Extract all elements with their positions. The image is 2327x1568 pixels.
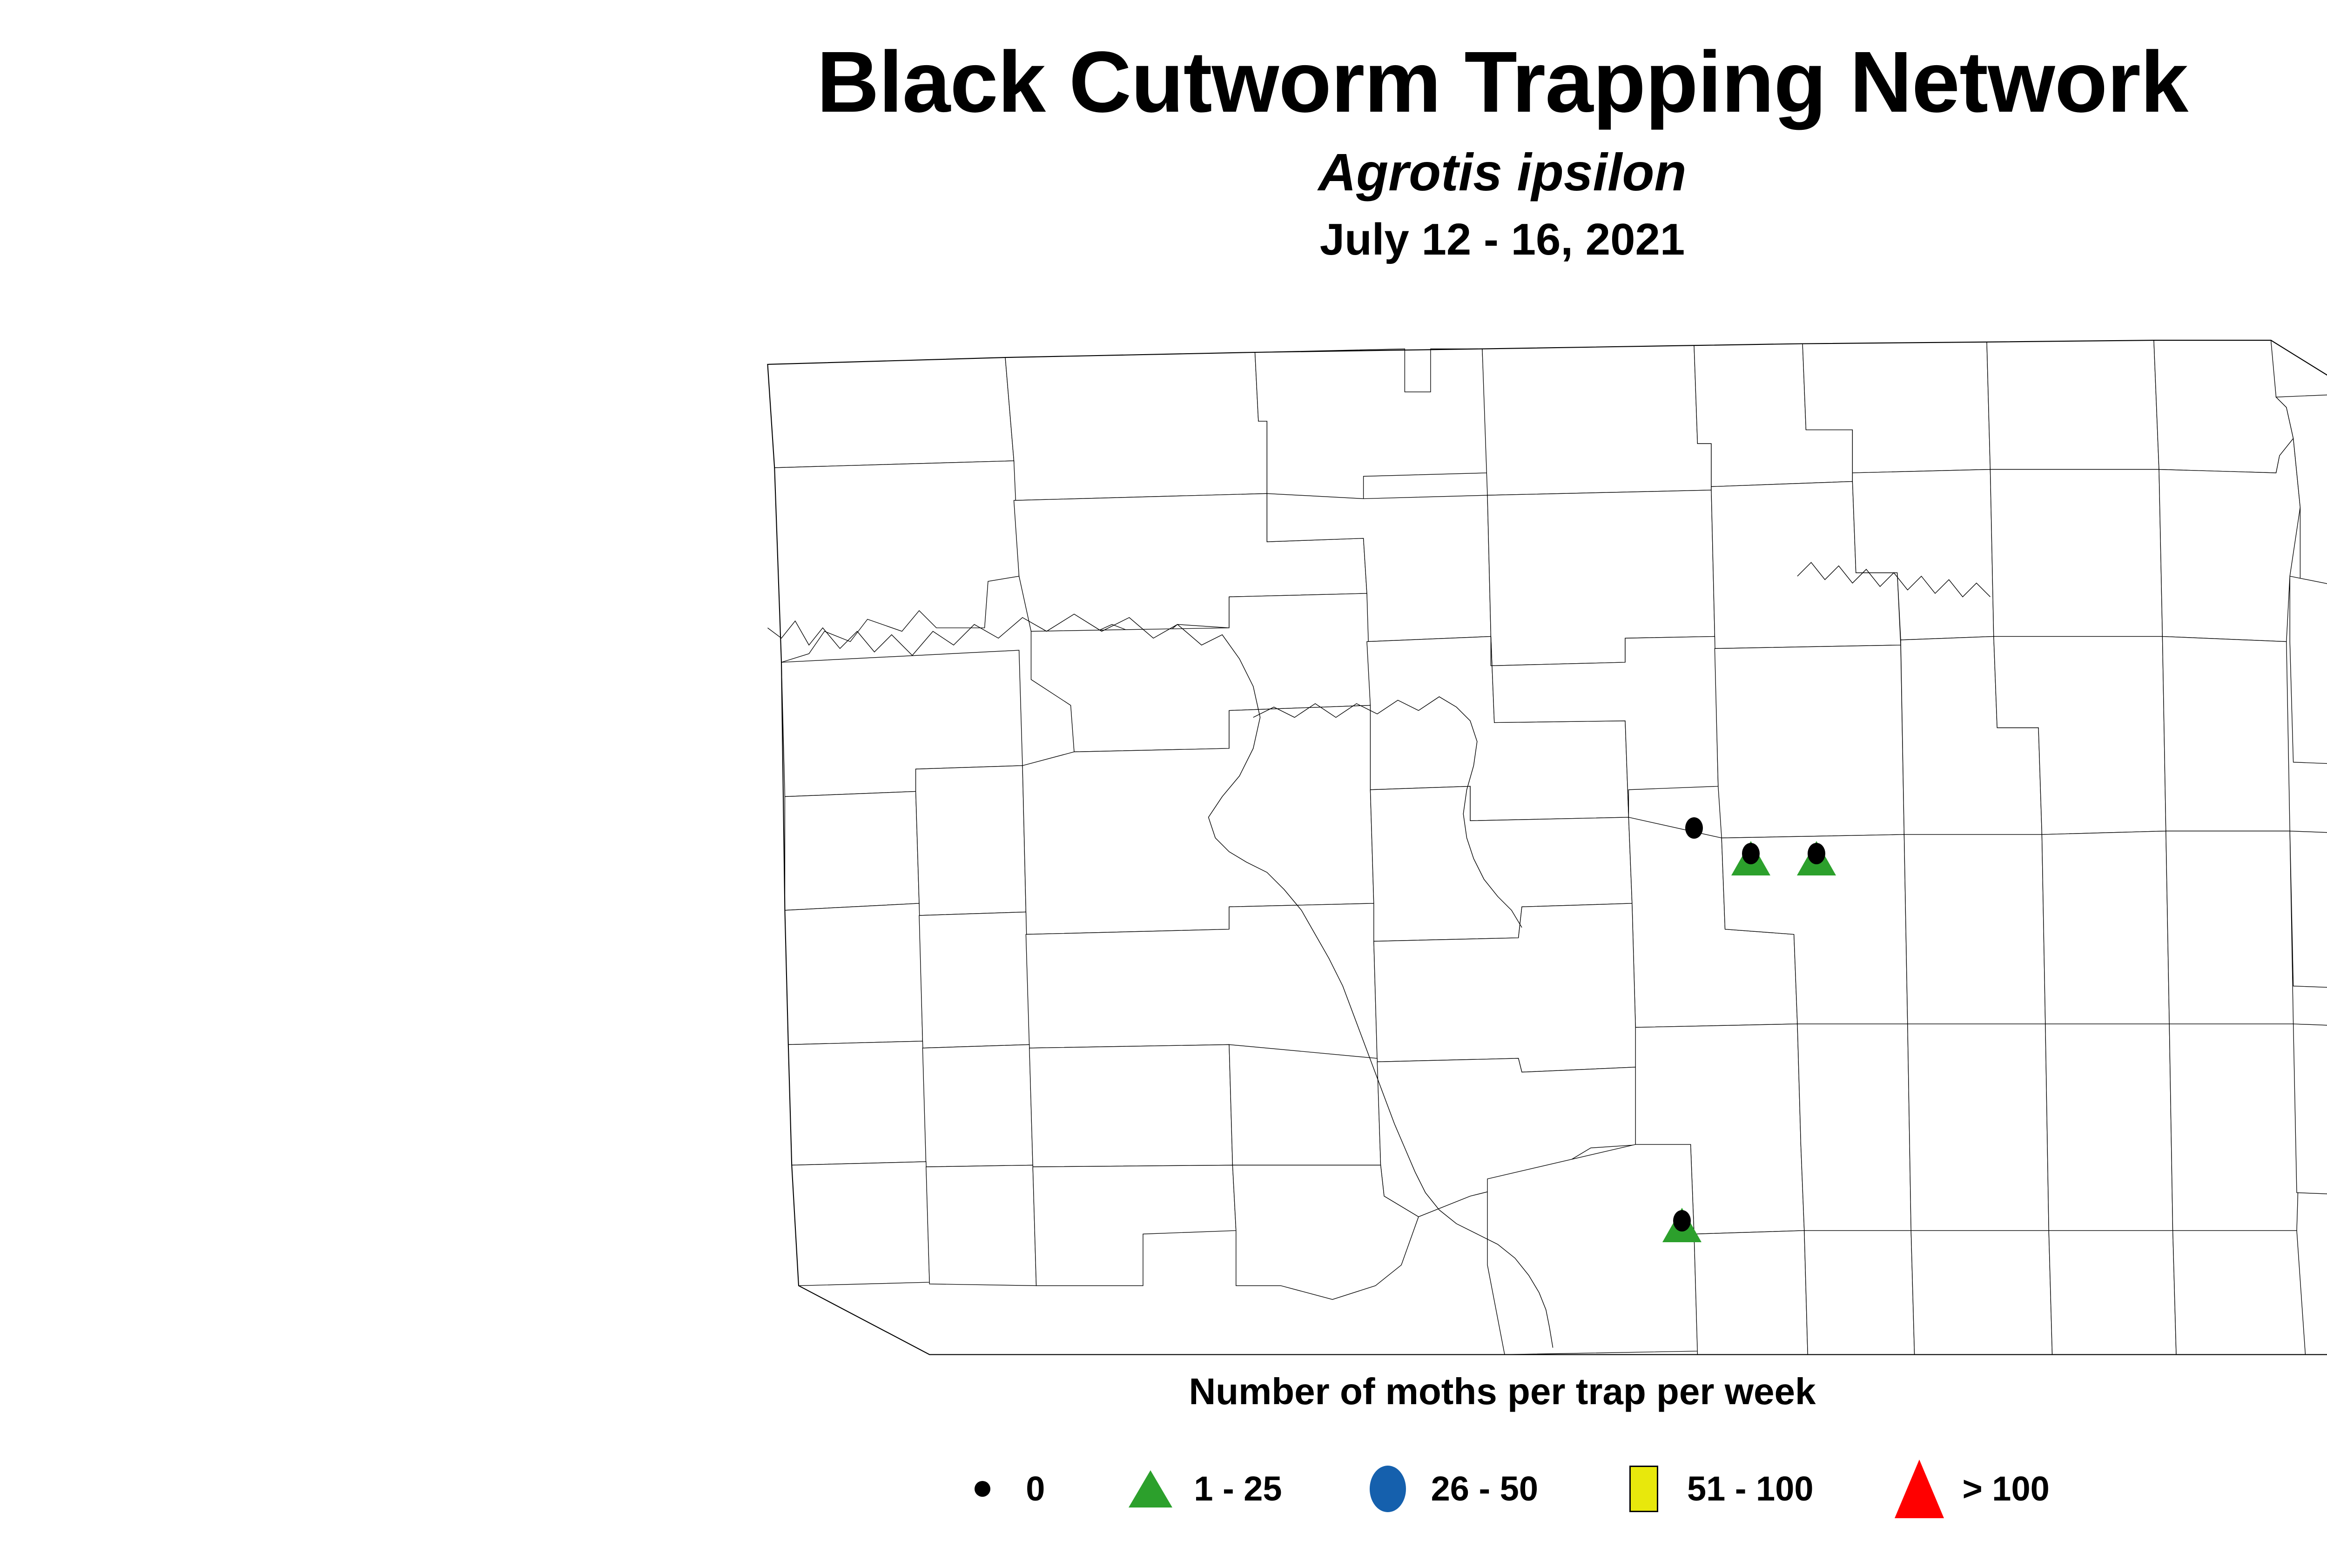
legend-item-2[interactable]: 26 - 50 <box>1360 1461 1538 1516</box>
blue-circle-icon <box>1360 1461 1415 1516</box>
green-triangle-icon <box>1123 1461 1178 1516</box>
yellow-square-icon <box>1616 1461 1671 1516</box>
legend-item-4[interactable]: > 100 <box>1892 1461 2050 1516</box>
map-svg <box>661 335 2327 1368</box>
black-dot-icon <box>955 1461 1010 1516</box>
north-dakota-county-map[interactable] <box>661 335 2327 1368</box>
legend-label-3: 51 - 100 <box>1687 1472 1814 1506</box>
legend-title: Number of moths per trap per week <box>0 1373 2327 1410</box>
legend-label-2: 26 - 50 <box>1431 1472 1538 1506</box>
date-range: July 12 - 16, 2021 <box>0 217 2327 262</box>
page-title: Black Cutworm Trapping Network <box>0 39 2327 126</box>
map-marker-dot-2[interactable] <box>1742 843 1760 864</box>
map-marker-dot-4[interactable] <box>1673 1210 1691 1232</box>
map-marker-dot-3[interactable] <box>1808 843 1825 864</box>
legend-item-0[interactable]: 0 <box>955 1461 1045 1516</box>
red-triangle-icon <box>1892 1461 1947 1516</box>
legend: 0 1 - 25 26 - 50 51 - 100 > 100 <box>0 1461 2327 1516</box>
title-block: Black Cutworm Trapping Network Agrotis i… <box>0 0 2327 262</box>
county-polygons <box>767 340 2327 1354</box>
legend-item-3[interactable]: 51 - 100 <box>1616 1461 1814 1516</box>
legend-item-1[interactable]: 1 - 25 <box>1123 1461 1282 1516</box>
scientific-name: Agrotis ipsilon <box>0 146 2327 199</box>
legend-label-0: 0 <box>1026 1472 1045 1506</box>
legend-label-4: > 100 <box>1963 1472 2050 1506</box>
legend-label-1: 1 - 25 <box>1194 1472 1282 1506</box>
map-figure: Black Cutworm Trapping Network Agrotis i… <box>0 0 2327 1568</box>
map-marker-dot-1[interactable] <box>1685 817 1703 839</box>
